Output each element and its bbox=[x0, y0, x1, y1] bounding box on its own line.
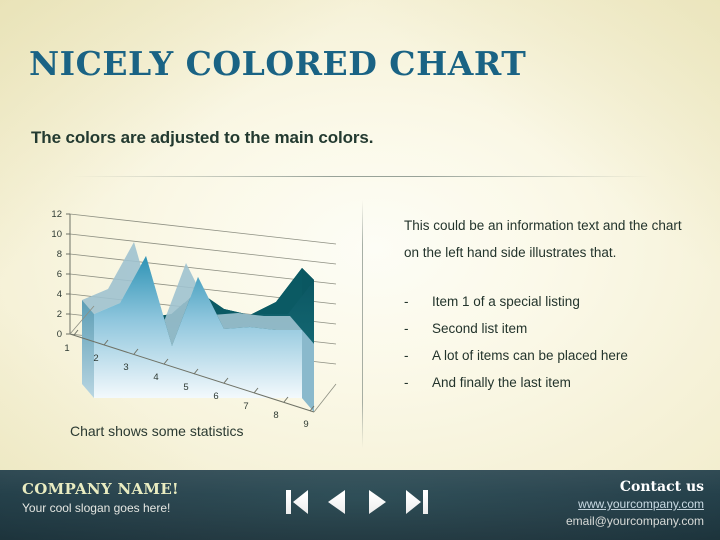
svg-text:3: 3 bbox=[123, 362, 128, 373]
list-item-label: And finally the last item bbox=[432, 369, 571, 396]
list-item: - Item 1 of a special listing bbox=[404, 288, 700, 315]
chevron-left-icon[interactable] bbox=[322, 485, 352, 519]
svg-text:8: 8 bbox=[57, 249, 62, 260]
svg-text:10: 10 bbox=[51, 229, 62, 240]
list-item-label: A lot of items can be placed here bbox=[432, 342, 628, 369]
company-email: email@yourcompany.com bbox=[566, 513, 704, 530]
svg-text:4: 4 bbox=[57, 289, 62, 300]
svg-text:1: 1 bbox=[64, 343, 69, 354]
svg-text:7: 7 bbox=[243, 401, 248, 412]
svg-text:5: 5 bbox=[183, 382, 188, 393]
list-item-label: Item 1 of a special listing bbox=[432, 288, 580, 315]
svg-text:8: 8 bbox=[273, 410, 278, 421]
chevron-right-icon[interactable] bbox=[362, 485, 392, 519]
skip-back-icon[interactable] bbox=[282, 485, 312, 519]
content-divider bbox=[362, 200, 363, 448]
company-name: COMPANY NAME! bbox=[22, 480, 179, 498]
area-chart: 12 10 8 6 4 2 0 bbox=[18, 196, 348, 446]
company-slogan: Your cool slogan goes here! bbox=[22, 501, 170, 515]
svg-text:6: 6 bbox=[213, 391, 218, 402]
svg-text:6: 6 bbox=[57, 269, 62, 280]
svg-text:9: 9 bbox=[303, 419, 308, 430]
bullet-marker: - bbox=[404, 315, 432, 342]
chart-canvas: 12 10 8 6 4 2 0 bbox=[18, 196, 348, 446]
list-item: - A lot of items can be placed here bbox=[404, 342, 700, 369]
company-website-link[interactable]: www.yourcompany.com bbox=[566, 496, 704, 513]
bullet-marker: - bbox=[404, 369, 432, 396]
chart-caption: Chart shows some statistics bbox=[70, 423, 244, 439]
svg-text:4: 4 bbox=[153, 372, 158, 383]
series-front-left-cap bbox=[82, 300, 94, 398]
header-divider bbox=[72, 176, 650, 177]
contact-block: Contact us www.yourcompany.com email@you… bbox=[566, 478, 704, 530]
info-paragraph: This could be an information text and th… bbox=[404, 212, 700, 266]
contact-title: Contact us bbox=[566, 478, 704, 496]
svg-text:12: 12 bbox=[51, 209, 62, 220]
chart-y-ticks bbox=[66, 214, 70, 334]
chart-y-tick-labels: 12 10 8 6 4 2 0 bbox=[51, 209, 62, 340]
bullet-marker: - bbox=[404, 342, 432, 369]
chart-floor-right bbox=[314, 384, 336, 412]
page-subtitle: The colors are adjusted to the main colo… bbox=[31, 128, 373, 148]
footer-bar: COMPANY NAME! Your cool slogan goes here… bbox=[0, 470, 720, 540]
info-panel: This could be an information text and th… bbox=[404, 212, 700, 396]
series-front-right-face bbox=[302, 330, 314, 412]
list-item: - And finally the last item bbox=[404, 369, 700, 396]
list-item: - Second list item bbox=[404, 315, 700, 342]
svg-text:0: 0 bbox=[57, 329, 62, 340]
skip-forward-icon[interactable] bbox=[402, 485, 432, 519]
slide-navigation bbox=[282, 482, 432, 522]
svg-text:2: 2 bbox=[93, 353, 98, 364]
slide: Nicely colored chart The colors are adju… bbox=[0, 0, 720, 540]
svg-text:2: 2 bbox=[57, 309, 62, 320]
bullet-marker: - bbox=[404, 288, 432, 315]
page-title: Nicely colored chart bbox=[29, 42, 649, 85]
bullet-list: - Item 1 of a special listing - Second l… bbox=[404, 288, 700, 396]
list-item-label: Second list item bbox=[432, 315, 527, 342]
